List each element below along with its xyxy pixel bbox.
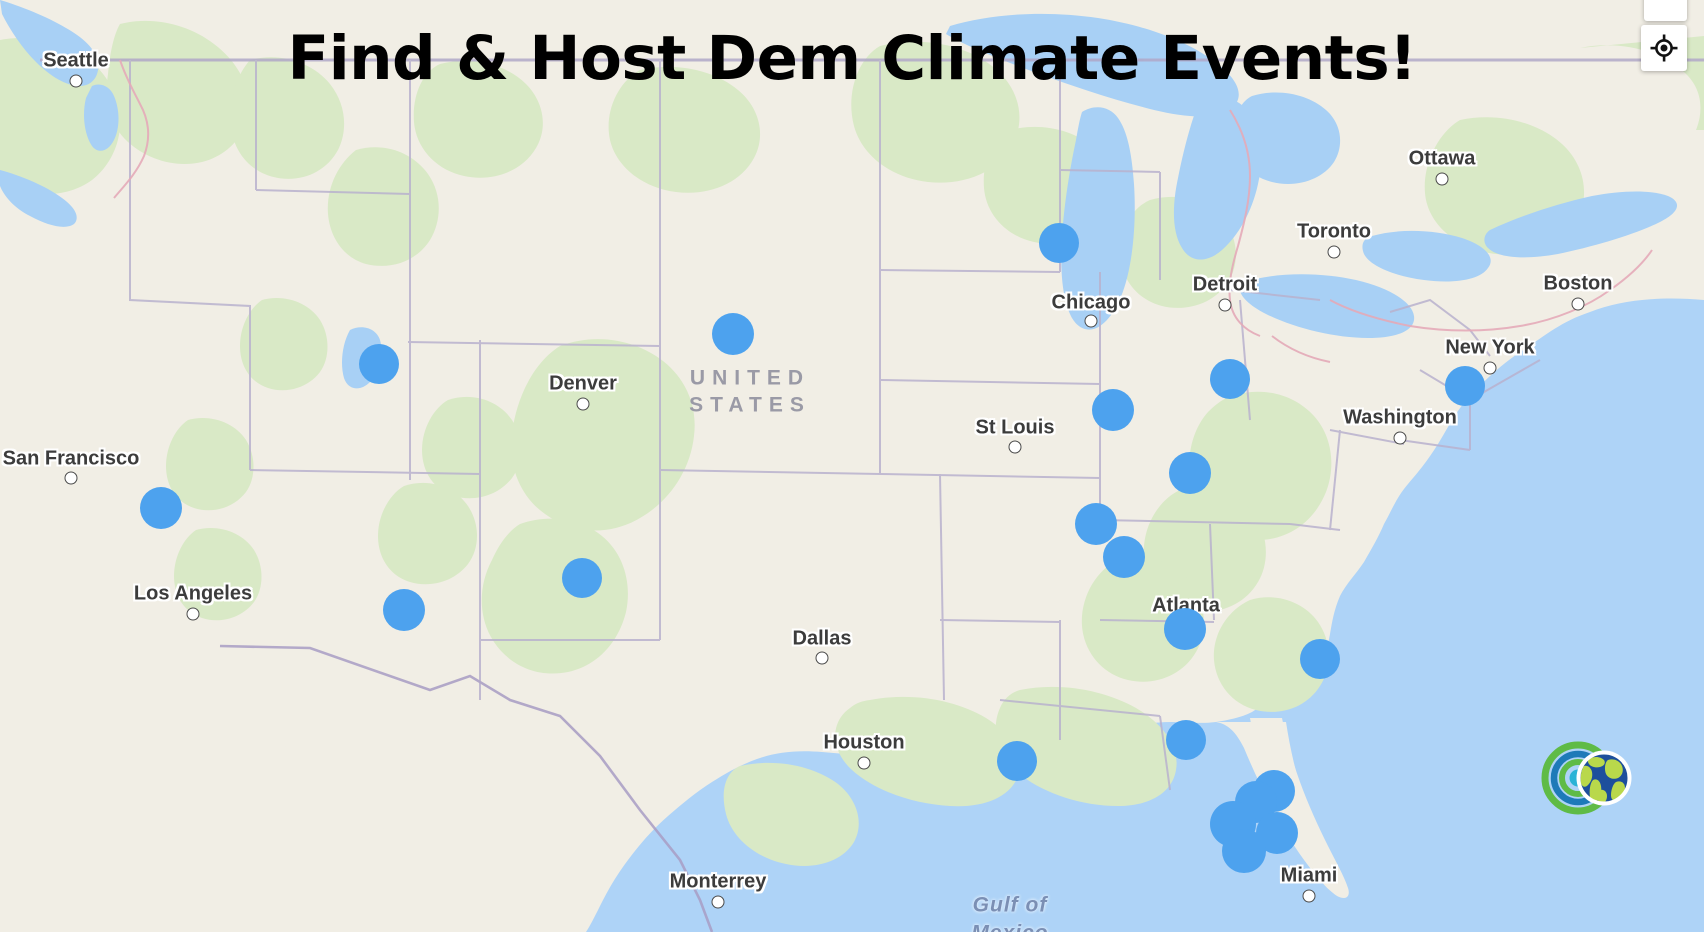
city-dot [1572,298,1585,311]
marker-michigan-west[interactable] [1039,223,1079,263]
city-dot [187,608,200,621]
marker-idaho[interactable] [359,344,399,384]
brand-logo[interactable] [1534,734,1644,822]
city-dot [1219,299,1232,312]
marker-arizona[interactable] [383,589,425,631]
logo-globe [1577,751,1632,806]
climate-reality-globe-logo [1534,734,1644,822]
marker-south-carolina[interactable] [1300,639,1340,679]
map-base-layer [0,0,1704,932]
city-dot [858,757,871,770]
city-dot [1484,362,1497,375]
marker-ohio[interactable] [1210,359,1250,399]
city-dot [1303,890,1316,903]
marker-california[interactable] [140,487,182,529]
map-canvas[interactable]: UNITED STATES Gulf of Mexico SeattleOtta… [0,0,1704,932]
marker-georgia[interactable] [1164,608,1206,650]
city-dot [65,472,78,485]
city-dot [577,398,590,411]
city-dot [1436,173,1449,186]
page-title: Find & Host Dem Climate Events! [0,28,1704,89]
marker-nebraska[interactable] [712,313,754,355]
marker-tennessee-west[interactable] [1075,503,1117,545]
marker-tennessee-south[interactable] [1103,536,1145,578]
marker-kentucky[interactable] [1169,452,1211,494]
marker-colorado-south[interactable] [562,558,602,598]
marker-new-jersey[interactable] [1445,366,1485,406]
city-dot [712,896,725,909]
city-dot [1328,246,1341,259]
city-dot [1085,315,1098,328]
map-page: UNITED STATES Gulf of Mexico SeattleOtta… [0,0,1704,932]
marker-indiana[interactable] [1092,389,1134,431]
fullscreen-button[interactable] [1644,0,1687,21]
city-dot [816,652,829,665]
city-dot [1009,441,1022,454]
crosshair-icon [1650,34,1678,62]
marker-florida-north[interactable] [1166,720,1206,760]
my-location-button[interactable] [1641,25,1687,71]
marker-louisiana[interactable] [997,741,1037,781]
city-dot [1394,432,1407,445]
marker-florida-south[interactable] [1222,829,1266,873]
